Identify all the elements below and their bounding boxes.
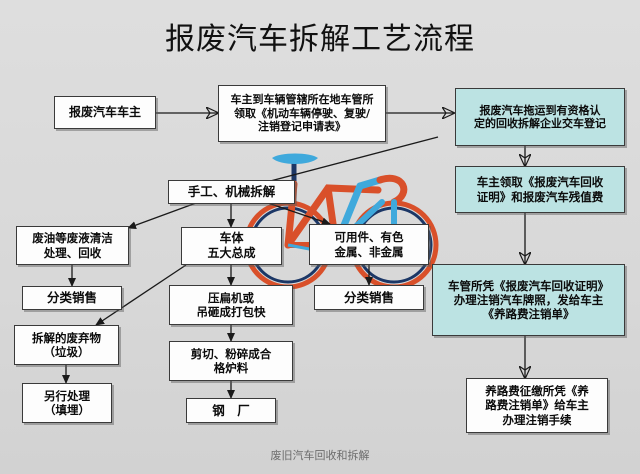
node-scrap-waste[interactable]: 拆解的废弃物 （垃圾） bbox=[14, 325, 119, 365]
node-cancel-plate[interactable]: 车管所凭《报废汽车回收证明》 办理注销汽车牌照，发给车主 《养路费注销单》 bbox=[432, 264, 625, 336]
node-dismantle[interactable]: 手工、机械拆解 bbox=[168, 180, 295, 204]
node-landfill[interactable]: 另行处理 （填埋） bbox=[22, 383, 112, 423]
node-dismantle-label: 手工、机械拆解 bbox=[173, 184, 290, 199]
page-title: 报废汽车拆解工艺流程 bbox=[0, 14, 640, 58]
node-press-pack-label: 压扁机或 吊砸成打包快 bbox=[174, 291, 288, 319]
node-owner[interactable]: 报废汽车车主 bbox=[54, 96, 156, 129]
node-road-fee[interactable]: 养路费征缴所凭《养 路费注销单》给车主 办理注销手续 bbox=[466, 378, 608, 433]
node-body-assembly[interactable]: 车体 五大总成 bbox=[181, 227, 282, 265]
node-steel-mill-label: 钢 厂 bbox=[191, 403, 271, 418]
node-waste-oil[interactable]: 废油等废液清洁 处理、回收 bbox=[16, 226, 129, 265]
node-waste-oil-label: 废油等废液清洁 处理、回收 bbox=[21, 231, 124, 259]
flowchart-canvas: 报废汽车拆解工艺流程 bbox=[0, 0, 640, 474]
node-sort-sale-right-label: 分类销售 bbox=[319, 290, 419, 305]
node-usable-parts[interactable]: 可用件、有色 金属、非金属 bbox=[309, 224, 429, 265]
bicycle-illustration bbox=[232, 150, 442, 295]
node-usable-parts-label: 可用件、有色 金属、非金属 bbox=[314, 230, 424, 258]
node-sort-sale-left-label: 分类销售 bbox=[27, 290, 117, 305]
figure-caption: 废旧汽车回收和拆解 bbox=[0, 447, 640, 463]
node-sort-sale-left[interactable]: 分类销售 bbox=[22, 286, 122, 310]
node-shred-charge[interactable]: 剪切、粉碎成合 格炉料 bbox=[169, 341, 293, 381]
node-sort-sale-right[interactable]: 分类销售 bbox=[314, 285, 424, 310]
node-receive-certificate-label: 车主领取《报废汽车回收 证明》和报废汽车残值费 bbox=[460, 175, 620, 203]
node-apply-form[interactable]: 车主到车辆管辖所在地车管所 领取《机动车辆停驶、复驶/ 注销登记申请表》 bbox=[218, 85, 386, 142]
node-steel-mill[interactable]: 钢 厂 bbox=[186, 398, 276, 423]
node-landfill-label: 另行处理 （填埋） bbox=[27, 389, 107, 417]
node-press-pack[interactable]: 压扁机或 吊砸成打包快 bbox=[169, 285, 293, 325]
node-tow-register-label: 报废汽车拖运到有资格认 定的回收拆解企业交车登记 bbox=[460, 104, 620, 131]
node-cancel-plate-label: 车管所凭《报废汽车回收证明》 办理注销汽车牌照，发给车主 《养路费注销单》 bbox=[437, 279, 620, 321]
node-scrap-waste-label: 拆解的废弃物 （垃圾） bbox=[19, 331, 114, 359]
node-road-fee-label: 养路费征缴所凭《养 路费注销单》给车主 办理注销手续 bbox=[471, 384, 603, 426]
node-apply-form-label: 车主到车辆管辖所在地车管所 领取《机动车辆停驶、复驶/ 注销登记申请表》 bbox=[223, 93, 381, 133]
node-body-assembly-label: 车体 五大总成 bbox=[186, 231, 277, 260]
node-owner-label: 报废汽车车主 bbox=[59, 105, 151, 120]
node-shred-charge-label: 剪切、粉碎成合 格炉料 bbox=[174, 347, 288, 375]
node-tow-register[interactable]: 报废汽车拖运到有资格认 定的回收拆解企业交车登记 bbox=[455, 88, 625, 146]
node-receive-certificate[interactable]: 车主领取《报废汽车回收 证明》和报废汽车残值费 bbox=[455, 166, 625, 213]
